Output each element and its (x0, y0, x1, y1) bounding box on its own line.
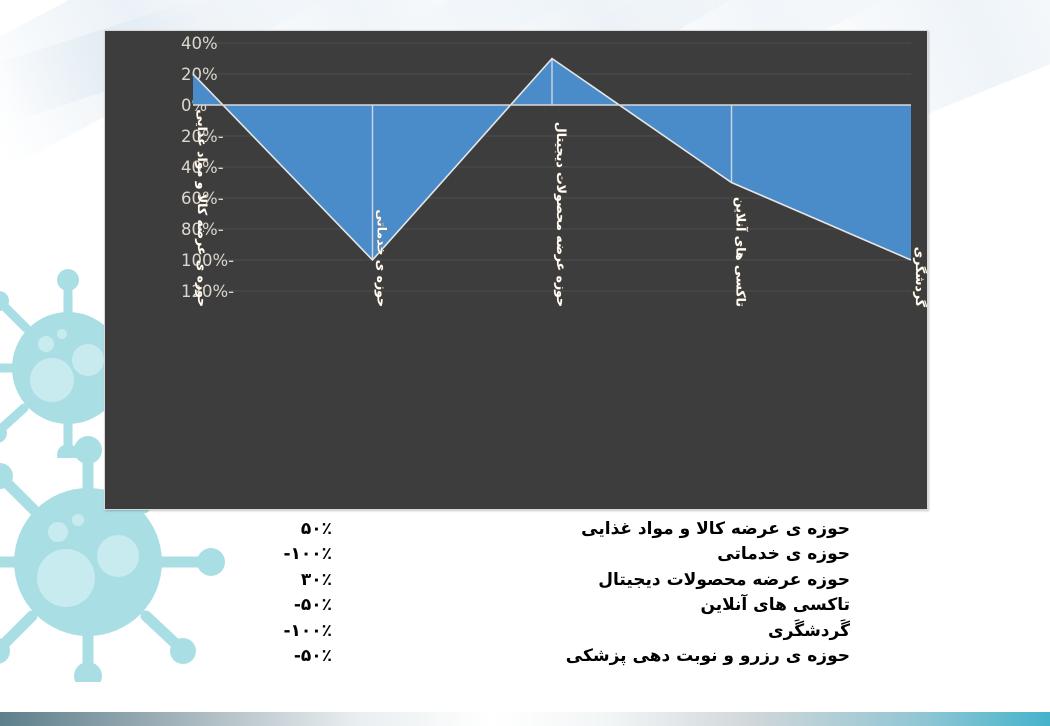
legend-row: ۳۰٪حوزه عرضه محصولات دیجیتال (0, 567, 1050, 592)
x-tick-label: حوزه ی خدماتی (375, 209, 390, 307)
legend-value: ۵۰٪ (240, 519, 332, 539)
legend-row: -۵۰٪حوزه ی رزرو و نوبت دهی پزشکی (0, 644, 1050, 669)
legend-label: گَردشگَری (768, 621, 850, 641)
legend-value: -۱۰۰٪ (240, 544, 332, 564)
legend-label: حوزه ی خدماتی (717, 544, 850, 564)
x-tick-label: گردشگری (913, 247, 927, 308)
legend-row: -۵۰٪تاکسی های آنلاین (0, 593, 1050, 618)
legend-value: -۵۰٪ (240, 646, 332, 666)
legend-value: -۵۰٪ (240, 595, 332, 615)
bottom-accent-bar (0, 712, 1050, 726)
legend-row: -۱۰۰٪گَردشگَری (0, 618, 1050, 643)
legend-label: حوزه ی رزرو و نوبت دهی پزشکی (566, 646, 850, 666)
legend-value: -۱۰۰٪ (240, 621, 332, 641)
chart-panel: 40%20%0%-20%-40%-60%-80%-100%-120% حوزه … (104, 30, 928, 510)
legend-row: ۵۰٪حوزه ی عرضه کالا و مواد غذایی (0, 516, 1050, 541)
x-tick-label: تاکسی های آنلاین (734, 197, 749, 307)
x-tick-label: حوزه عرضه محصولات دیجیتال (554, 122, 569, 307)
legend-list: ۵۰٪حوزه ی عرضه کالا و مواد غذایی-۱۰۰٪حوز… (0, 516, 1050, 686)
legend-label: تاکسی های آنلاین (700, 595, 850, 615)
x-tick-label: حوزه ی عرضه کالا و مواد غذایی (195, 109, 210, 307)
legend-label: حوزه عرضه محصولات دیجیتال (598, 570, 850, 590)
legend-label: حوزه ی عرضه کالا و مواد غذایی (581, 519, 850, 539)
legend-value: ۳۰٪ (240, 570, 332, 590)
y-tick-label: 40% (181, 34, 218, 53)
legend-row: -۱۰۰٪حوزه ی خدماتی (0, 542, 1050, 567)
area-chart: 40%20%0%-20%-40%-60%-80%-100%-120% حوزه … (105, 31, 927, 509)
